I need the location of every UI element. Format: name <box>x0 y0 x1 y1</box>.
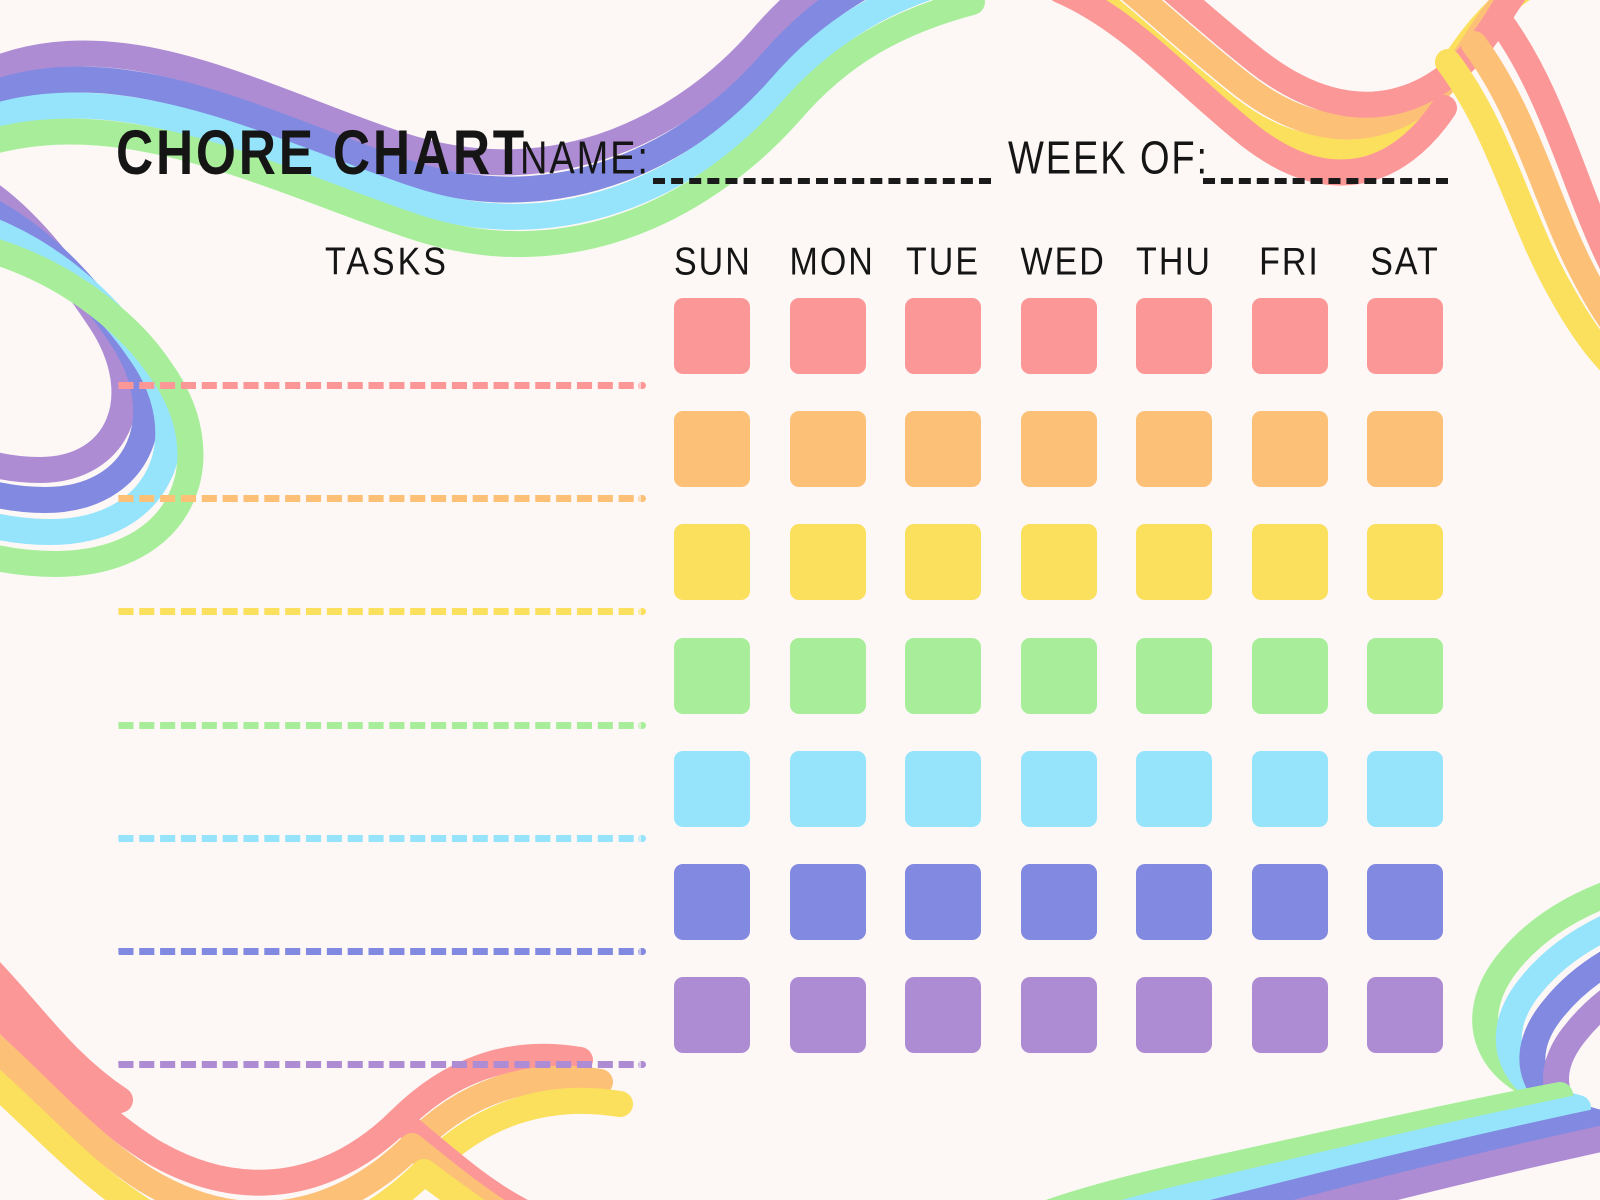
chore-cell-row3-tue[interactable] <box>905 524 981 600</box>
chore-cell-row1-mon[interactable] <box>790 298 866 374</box>
chore-cell-row2-fri[interactable] <box>1252 411 1328 487</box>
chore-cell-row2-wed[interactable] <box>1021 411 1097 487</box>
chore-cell-row4-sun[interactable] <box>674 638 750 714</box>
chore-cell-row2-sat[interactable] <box>1367 411 1443 487</box>
chore-cell-row2-thu[interactable] <box>1136 411 1212 487</box>
chore-cell-row2-sun[interactable] <box>674 411 750 487</box>
task-input-row-4[interactable] <box>116 722 646 729</box>
chore-cell-row5-wed[interactable] <box>1021 751 1097 827</box>
chore-cell-row3-wed[interactable] <box>1021 524 1097 600</box>
name-field-label: NAME: <box>520 133 650 185</box>
day-header-wed: WED <box>1021 240 1097 285</box>
day-header-sat: SAT <box>1367 240 1443 285</box>
chore-cell-row1-sat[interactable] <box>1367 298 1443 374</box>
day-header-mon: MON <box>790 240 866 285</box>
task-input-row-3[interactable] <box>116 608 646 615</box>
task-input-row-5[interactable] <box>116 835 646 842</box>
chore-cell-row6-sun[interactable] <box>674 864 750 940</box>
chore-cell-row5-tue[interactable] <box>905 751 981 827</box>
chore-cell-row7-mon[interactable] <box>790 977 866 1053</box>
chore-cell-row1-tue[interactable] <box>905 298 981 374</box>
chore-cell-row5-sun[interactable] <box>674 751 750 827</box>
day-header-fri: FRI <box>1252 240 1328 285</box>
chore-cell-row5-thu[interactable] <box>1136 751 1212 827</box>
chore-cell-row5-fri[interactable] <box>1252 751 1328 827</box>
rainbow-bottom-left-icon <box>0 960 620 1200</box>
chore-cell-row1-wed[interactable] <box>1021 298 1097 374</box>
chore-cell-row3-fri[interactable] <box>1252 524 1328 600</box>
week-of-input[interactable] <box>1203 178 1448 184</box>
task-input-row-7[interactable] <box>116 1061 646 1068</box>
chore-cell-row6-sat[interactable] <box>1367 864 1443 940</box>
chore-cell-row4-fri[interactable] <box>1252 638 1328 714</box>
chore-cell-row4-sat[interactable] <box>1367 638 1443 714</box>
chore-cell-row7-tue[interactable] <box>905 977 981 1053</box>
tasks-column-header: TASKS <box>325 240 445 285</box>
chore-cell-row7-thu[interactable] <box>1136 977 1212 1053</box>
task-input-row-1[interactable] <box>116 382 646 389</box>
page-title: CHORE CHART <box>116 116 527 189</box>
chore-cell-row1-thu[interactable] <box>1136 298 1212 374</box>
chore-cell-row6-thu[interactable] <box>1136 864 1212 940</box>
chore-cell-row3-sun[interactable] <box>674 524 750 600</box>
chore-cell-row1-sun[interactable] <box>674 298 750 374</box>
chore-cell-row2-mon[interactable] <box>790 411 866 487</box>
chore-cell-row4-tue[interactable] <box>905 638 981 714</box>
chore-chart-page: CHORE CHART NAME: WEEK OF: TASKS SUNMONT… <box>0 0 1600 1200</box>
chore-cell-row2-tue[interactable] <box>905 411 981 487</box>
chore-cell-row1-fri[interactable] <box>1252 298 1328 374</box>
chore-cell-row5-mon[interactable] <box>790 751 866 827</box>
chore-cell-row6-mon[interactable] <box>790 864 866 940</box>
chore-cell-row6-fri[interactable] <box>1252 864 1328 940</box>
chore-cell-row4-wed[interactable] <box>1021 638 1097 714</box>
name-input[interactable] <box>653 178 991 184</box>
chore-cell-row7-fri[interactable] <box>1252 977 1328 1053</box>
chore-cell-row5-sat[interactable] <box>1367 751 1443 827</box>
chore-cell-row6-tue[interactable] <box>905 864 981 940</box>
chore-cell-row4-thu[interactable] <box>1136 638 1212 714</box>
chore-cell-row6-wed[interactable] <box>1021 864 1097 940</box>
task-input-row-6[interactable] <box>116 948 646 955</box>
day-header-tue: TUE <box>905 240 981 285</box>
chore-cell-row3-sat[interactable] <box>1367 524 1443 600</box>
chore-cell-row7-sun[interactable] <box>674 977 750 1053</box>
chore-cell-row4-mon[interactable] <box>790 638 866 714</box>
day-header-thu: THU <box>1136 240 1212 285</box>
task-input-row-2[interactable] <box>116 495 646 502</box>
chore-cell-row7-wed[interactable] <box>1021 977 1097 1053</box>
chore-cell-row3-thu[interactable] <box>1136 524 1212 600</box>
week-of-field-label: WEEK OF: <box>1008 133 1209 185</box>
chore-cell-row7-sat[interactable] <box>1367 977 1443 1053</box>
day-header-sun: SUN <box>674 240 750 285</box>
chore-cell-row3-mon[interactable] <box>790 524 866 600</box>
